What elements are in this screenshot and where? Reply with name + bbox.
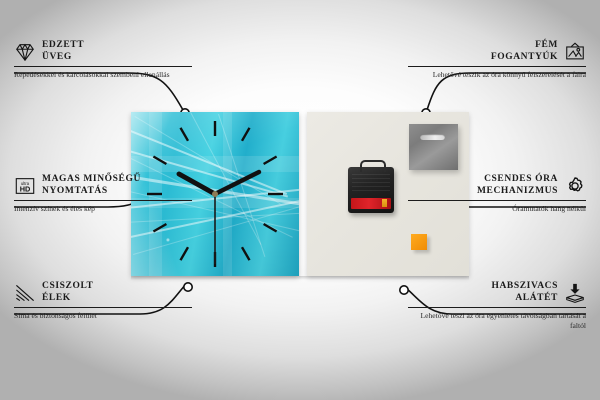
callout-divider <box>408 307 586 308</box>
callout-title-line2: ÜVEG <box>42 52 72 62</box>
callout-divider <box>14 66 192 67</box>
callout-title-line2: MECHANIZMUS <box>477 186 558 196</box>
callout-title-line1: MAGAS MINŐSÉGŰ <box>42 174 141 184</box>
callout-description: Lehetővé teszi az óra egyenletes távolsá… <box>408 311 586 330</box>
clock-mechanism-part <box>348 167 394 213</box>
callout-title-line1: CSENDES ÓRA <box>484 174 558 184</box>
polished-edges-icon <box>14 282 36 304</box>
callout-silent-mechanism[interactable]: CSENDES ÓRA MECHANIZMUS Óramutatók hang … <box>408 174 586 214</box>
callout-divider <box>14 200 192 201</box>
callout-description: Repedésekkel és karcolásokkal szembeni e… <box>14 70 192 80</box>
foam-pad-icon <box>564 282 586 304</box>
surface-shadow <box>131 276 469 280</box>
callout-divider <box>408 66 586 67</box>
callout-title-line1: CSISZOLT <box>42 281 93 291</box>
callout-tempered-glass[interactable]: EDZETT ÜVEG Repedésekkel és karcolásokka… <box>14 40 192 80</box>
diamond-icon <box>14 41 36 63</box>
picture-hanger-icon <box>564 41 586 63</box>
foam-pad-part <box>411 234 427 250</box>
callout-polished-edges[interactable]: CSISZOLT ÉLEK Sima és biztonságos felüle… <box>14 281 192 321</box>
metal-hanger-part <box>409 124 458 170</box>
callout-title-line2: FOGANTYÚK <box>491 52 558 62</box>
callout-divider <box>408 200 586 201</box>
callout-description: Sima és biztonságos felület <box>14 311 192 321</box>
callout-description: Lehetővé teszik az óra könnyű felszerelé… <box>408 70 586 80</box>
callout-title-line2: NYOMTATÁS <box>42 186 108 196</box>
ultra-hd-icon: ultra HD <box>14 175 36 197</box>
callout-foam-pad[interactable]: HABSZIVACS ALÁTÉT Lehetővé teszi az óra … <box>408 281 586 330</box>
callout-metal-hooks[interactable]: FÉM FOGANTYÚK Lehetővé teszik az óra kön… <box>408 40 586 80</box>
callout-description: Óramutatók hang nélkül <box>408 204 586 214</box>
callout-description: Intenzív színek és éles kép <box>14 204 192 214</box>
callout-hd-print[interactable]: ultra HD MAGAS MINŐSÉGŰ NYOMTATÁS Intenz… <box>14 174 192 214</box>
callout-divider <box>14 307 192 308</box>
callout-title-line2: ALÁTÉT <box>515 293 558 303</box>
callout-title-line1: FÉM <box>535 40 558 50</box>
gear-icon <box>564 175 586 197</box>
svg-text:HD: HD <box>20 184 31 193</box>
callout-title-line2: ÉLEK <box>42 293 71 303</box>
callout-title-line1: HABSZIVACS <box>491 281 558 291</box>
infographic-canvas: EDZETT ÜVEG Repedésekkel és karcolásokka… <box>0 0 600 400</box>
callout-title-line1: EDZETT <box>42 40 84 50</box>
